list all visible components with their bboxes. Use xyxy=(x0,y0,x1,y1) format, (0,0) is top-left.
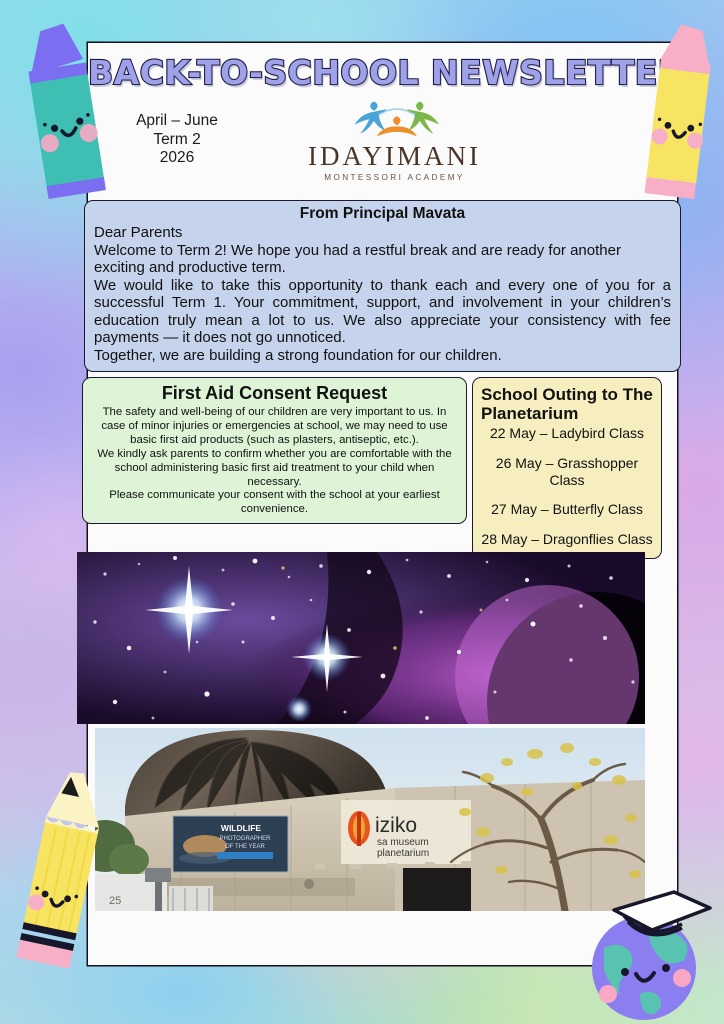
crayon-icon xyxy=(8,22,128,212)
outing-event: 22 May – Ladybird Class xyxy=(481,425,653,442)
globe-graduation-cap-icon xyxy=(578,886,718,1024)
svg-text:planetarium: planetarium xyxy=(377,848,429,859)
pencil-icon xyxy=(2,768,132,968)
school-logo: IDAYIMANI MONTESSORI ACADEMY xyxy=(246,98,543,182)
outing-event: 27 May – Butterfly Class xyxy=(481,501,653,518)
logo-subtitle: MONTESSORI ACADEMY xyxy=(324,173,465,182)
logo-name: IDAYIMANI xyxy=(308,143,481,170)
first-aid-consent-box: First Aid Consent Request The safety and… xyxy=(82,377,467,524)
first-aid-paragraph-2: We kindly ask parents to confirm whether… xyxy=(93,448,456,490)
school-outing-box: School Outing to The Planetarium 22 May … xyxy=(472,377,662,559)
planetarium-building-photo: WILDLIFE PHOTOGRAPHER OF THE YEAR iziko … xyxy=(95,728,645,911)
svg-text:WILDLIFE: WILDLIFE xyxy=(221,823,261,833)
galaxy-nebula-photo xyxy=(77,552,645,724)
first-aid-heading: First Aid Consent Request xyxy=(93,383,456,404)
outing-heading: School Outing to The Planetarium xyxy=(481,385,653,423)
first-aid-paragraph-3: Please communicate your consent with the… xyxy=(93,489,456,517)
outing-event: 26 May – Grasshopper Class xyxy=(481,455,653,489)
principal-message-box: From Principal Mavata Dear Parents Welco… xyxy=(84,200,681,372)
principal-paragraph-2: We would like to take this opportunity t… xyxy=(94,277,671,347)
outing-event: 28 May – Dragonflies Class xyxy=(481,531,653,548)
header-row: April – June Term 2 2026 xyxy=(88,92,677,182)
svg-text:sa museum: sa museum xyxy=(377,837,429,848)
first-aid-paragraph-1: The safety and well-being of our childre… xyxy=(93,406,456,448)
principal-paragraph-3: Together, we are building a strong found… xyxy=(94,347,671,365)
crayon-icon xyxy=(640,18,724,218)
svg-text:iziko: iziko xyxy=(375,814,417,837)
principal-salutation: Dear Parents xyxy=(94,224,671,242)
newsletter-page: BACK-TO-SCHOOL NEWSLETTER April – June T… xyxy=(88,43,677,965)
principal-heading: From Principal Mavata xyxy=(94,205,671,223)
page-title: BACK-TO-SCHOOL NEWSLETTER xyxy=(88,53,677,92)
svg-text:OF THE YEAR: OF THE YEAR xyxy=(225,844,265,850)
principal-paragraph-1: Welcome to Term 2! We hope you had a res… xyxy=(94,242,671,277)
svg-text:PHOTOGRAPHER: PHOTOGRAPHER xyxy=(220,836,272,842)
logo-figures-icon xyxy=(349,98,441,142)
